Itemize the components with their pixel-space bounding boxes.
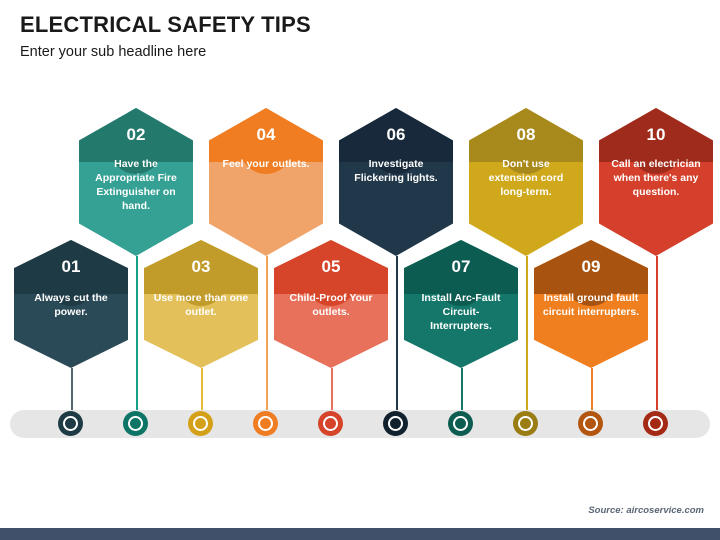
tip-number: 04 — [209, 126, 323, 143]
tip-text: Investigate Flickering lights. — [339, 108, 453, 186]
hexagon-shape: 05Child-Proof Your outlets. — [274, 240, 388, 368]
tip-hexagon-07[interactable]: 07Install Arc-Fault Circuit-Interrupters… — [404, 240, 518, 368]
tip-hexagon-05[interactable]: 05Child-Proof Your outlets. — [274, 240, 388, 368]
tip-number: 10 — [599, 126, 713, 143]
hexagon-shape: 03Use more than one outlet. — [144, 240, 258, 368]
tip-hexagon-01[interactable]: 01Always cut the power. — [14, 240, 128, 368]
marker-inner-ring — [323, 416, 338, 431]
tip-hexagon-06[interactable]: 06Investigate Flickering lights. — [339, 108, 453, 256]
timeline-bar — [10, 410, 710, 438]
connector-stem — [266, 256, 268, 423]
timeline-marker-05[interactable] — [318, 411, 343, 436]
tip-number: 07 — [404, 258, 518, 275]
tip-hexagon-02[interactable]: 02Have the Appropriate Fire Extinguisher… — [79, 108, 193, 256]
hexagon-shape: 04Feel your outlets. — [209, 108, 323, 256]
timeline-marker-04[interactable] — [253, 411, 278, 436]
hexagon-shape: 01Always cut the power. — [14, 240, 128, 368]
tip-number: 09 — [534, 258, 648, 275]
tip-number: 08 — [469, 126, 583, 143]
timeline-marker-06[interactable] — [383, 411, 408, 436]
tip-text: Don't use extension cord long-term. — [469, 108, 583, 200]
tip-hexagon-10[interactable]: 10Call an electrician when there's any q… — [599, 108, 713, 256]
hexagon-shape: 02Have the Appropriate Fire Extinguisher… — [79, 108, 193, 256]
tip-hexagon-03[interactable]: 03Use more than one outlet. — [144, 240, 258, 368]
marker-inner-ring — [648, 416, 663, 431]
marker-inner-ring — [518, 416, 533, 431]
marker-inner-ring — [128, 416, 143, 431]
marker-inner-ring — [388, 416, 403, 431]
timeline-marker-02[interactable] — [123, 411, 148, 436]
hexagon-shape: 07Install Arc-Fault Circuit-Interrupters… — [404, 240, 518, 368]
tip-hexagon-08[interactable]: 08Don't use extension cord long-term. — [469, 108, 583, 256]
tip-text: Have the Appropriate Fire Extinguisher o… — [79, 108, 193, 213]
timeline-marker-01[interactable] — [58, 411, 83, 436]
timeline-marker-08[interactable] — [513, 411, 538, 436]
tip-number: 03 — [144, 258, 258, 275]
source-note: Source: aircoservice.com — [588, 505, 704, 516]
tip-hexagon-09[interactable]: 09Install ground fault circuit interrupt… — [534, 240, 648, 368]
marker-inner-ring — [583, 416, 598, 431]
tip-number: 05 — [274, 258, 388, 275]
tip-number: 06 — [339, 126, 453, 143]
hexagon-shape: 10Call an electrician when there's any q… — [599, 108, 713, 256]
tip-text: Call an electrician when there's any que… — [599, 108, 713, 200]
marker-inner-ring — [258, 416, 273, 431]
tip-hexagon-04[interactable]: 04Feel your outlets. — [209, 108, 323, 256]
timeline-marker-09[interactable] — [578, 411, 603, 436]
timeline-marker-07[interactable] — [448, 411, 473, 436]
connector-stem — [136, 256, 138, 423]
timeline-marker-03[interactable] — [188, 411, 213, 436]
marker-inner-ring — [63, 416, 78, 431]
timeline-marker-10[interactable] — [643, 411, 668, 436]
connector-stem — [526, 256, 528, 423]
hexagon-shape: 08Don't use extension cord long-term. — [469, 108, 583, 256]
infographic-chart: 01Always cut the power.02Have the Approp… — [0, 0, 720, 540]
marker-inner-ring — [453, 416, 468, 431]
marker-inner-ring — [193, 416, 208, 431]
hexagon-shape: 06Investigate Flickering lights. — [339, 108, 453, 256]
hexagon-shape: 09Install ground fault circuit interrupt… — [534, 240, 648, 368]
bottom-accent-bar — [0, 528, 720, 540]
connector-stem — [656, 256, 658, 423]
tip-number: 02 — [79, 126, 193, 143]
connector-stem — [396, 256, 398, 423]
tip-number: 01 — [14, 258, 128, 275]
